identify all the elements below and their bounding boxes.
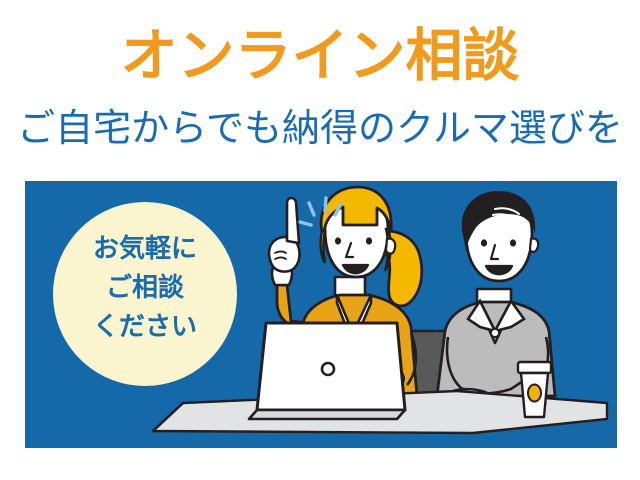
page-subtitle: ご自宅からでも納得のクルマ選びを bbox=[0, 105, 640, 151]
promo-banner: オンライン相談 ご自宅からでも納得のクルマ選びを bbox=[0, 0, 640, 480]
illustration-panel: お気軽に ご相談 ください bbox=[25, 181, 617, 448]
status-badge: お気軽に ご相談 ください bbox=[53, 202, 237, 386]
badge-label: お気軽に ご相談 ください bbox=[53, 230, 237, 347]
page-title: オンライン相談 bbox=[0, 25, 640, 87]
laptop-illustration bbox=[249, 323, 405, 419]
banner-header: オンライン相談 ご自宅からでも納得のクルマ選びを bbox=[0, 0, 640, 172]
